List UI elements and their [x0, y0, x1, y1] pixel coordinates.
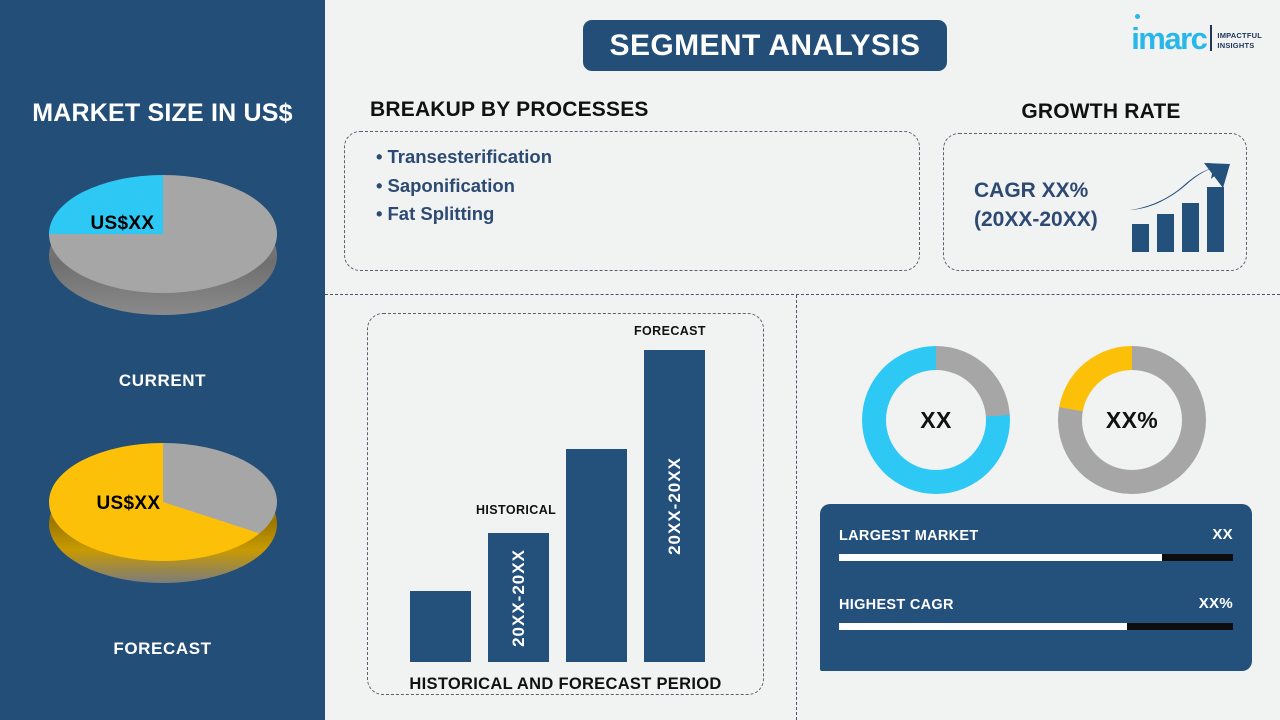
pie-chart-current: US$XX CURRENT — [0, 175, 325, 391]
breakup-list: •Transesterification •Saponification •Fa… — [376, 143, 552, 229]
stat-largest-market-label: LARGEST MARKET — [839, 528, 979, 544]
breakup-item-label: Fat Splitting — [387, 203, 494, 224]
bullet-icon: • — [376, 203, 382, 224]
bar-2-label: 20XX-20XX — [509, 549, 529, 647]
bar-caption-historical: HISTORICAL — [476, 503, 544, 517]
logo-tagline-line1: IMPACTFUL — [1217, 31, 1262, 41]
stat-largest-market-head: LARGEST MARKET XX — [839, 528, 1233, 550]
share-donut-value: XX% — [1106, 407, 1158, 434]
stat-highest-cagr-head: HIGHEST CAGR XX% — [839, 597, 1233, 619]
logo-tagline-line2: INSIGHTS — [1217, 41, 1262, 51]
volume-donut-value: XX — [920, 407, 951, 434]
stat-highest-cagr-value: XX% — [1199, 595, 1233, 612]
breakup-item-label: Transesterification — [387, 146, 552, 167]
logo-divider — [1210, 25, 1212, 51]
growth-rate-heading: GROWTH RATE — [943, 100, 1259, 124]
list-item: •Fat Splitting — [376, 200, 552, 229]
bar-chart: HISTORICAL 20XX-20XX FORECAST 20XX-20XX — [398, 340, 728, 662]
sidebar-title: MARKET SIZE IN US$ — [0, 99, 325, 128]
stats-panel: LARGEST MARKET XX HIGHEST CAGR XX% — [820, 504, 1252, 671]
stat-highest-cagr-progress-fill — [839, 623, 1127, 630]
infographic-page: MARKET SIZE IN US$ US$XX CURRENT US$XX F… — [0, 0, 1280, 720]
stat-highest-cagr: HIGHEST CAGR XX% — [839, 597, 1233, 630]
pie-chart-forecast: US$XX FORECAST — [0, 443, 325, 659]
pie-forecast-top — [49, 443, 277, 561]
page-title-box: SEGMENT ANALYSIS — [583, 20, 947, 71]
pie-forecast-value: US$XX — [97, 493, 161, 515]
share-donut-hole: XX% — [1082, 370, 1182, 470]
bar-4-label: 20XX-20XX — [665, 457, 685, 555]
logo-wordmark: imarc — [1131, 23, 1206, 54]
volume-donut-hole: XX — [886, 370, 986, 470]
list-item: •Transesterification — [376, 143, 552, 172]
pie-forecast-label: FORECAST — [0, 639, 325, 659]
breakup-item-label: Saponification — [387, 175, 514, 196]
pie-forecast-graphic: US$XX — [49, 443, 277, 593]
horizontal-divider — [325, 294, 1280, 295]
pie-current-value: US$XX — [91, 213, 155, 235]
bar-chart-axis-label: HISTORICAL AND FORECAST PERIOD — [367, 675, 764, 694]
bar-2: 20XX-20XX — [488, 533, 549, 662]
growth-arrow-chart-icon — [1128, 162, 1232, 259]
vertical-divider — [796, 295, 797, 720]
bar-1 — [410, 591, 471, 662]
breakup-panel: •Transesterification •Saponification •Fa… — [344, 131, 920, 271]
imarc-logo: imarc IMPACTFUL INSIGHTS — [1131, 12, 1262, 54]
bar-caption-forecast: FORECAST — [634, 324, 702, 338]
share-donut: XX% — [1058, 346, 1206, 494]
logo-wordmark-text: imarc — [1131, 21, 1206, 56]
stat-largest-market-progress — [839, 554, 1233, 561]
bar-3 — [566, 449, 627, 662]
cagr-text: CAGR XX% (20XX-20XX) — [974, 176, 1098, 234]
cagr-line-1: CAGR XX% — [974, 176, 1098, 205]
bullet-icon: • — [376, 146, 382, 167]
growth-rate-panel: CAGR XX% (20XX-20XX) — [943, 133, 1247, 271]
stat-largest-market-progress-fill — [839, 554, 1162, 561]
stat-largest-market: LARGEST MARKET XX — [839, 528, 1233, 561]
pie-current-top — [49, 175, 277, 293]
stat-largest-market-value: XX — [1212, 526, 1233, 543]
list-item: •Saponification — [376, 172, 552, 201]
stat-highest-cagr-label: HIGHEST CAGR — [839, 597, 954, 613]
stat-highest-cagr-progress — [839, 623, 1233, 630]
logo-dot-icon — [1135, 14, 1140, 19]
pie-current-graphic: US$XX — [49, 175, 277, 325]
logo-tagline: IMPACTFUL INSIGHTS — [1217, 31, 1262, 54]
volume-donut: XX — [862, 346, 1010, 494]
breakup-heading: BREAKUP BY PROCESSES — [370, 98, 649, 122]
page-title: SEGMENT ANALYSIS — [610, 29, 921, 63]
bullet-icon: • — [376, 175, 382, 196]
bar-4: 20XX-20XX — [644, 350, 705, 662]
sidebar: MARKET SIZE IN US$ US$XX CURRENT US$XX F… — [0, 0, 325, 720]
cagr-line-2: (20XX-20XX) — [974, 205, 1098, 234]
pie-current-label: CURRENT — [0, 371, 325, 391]
